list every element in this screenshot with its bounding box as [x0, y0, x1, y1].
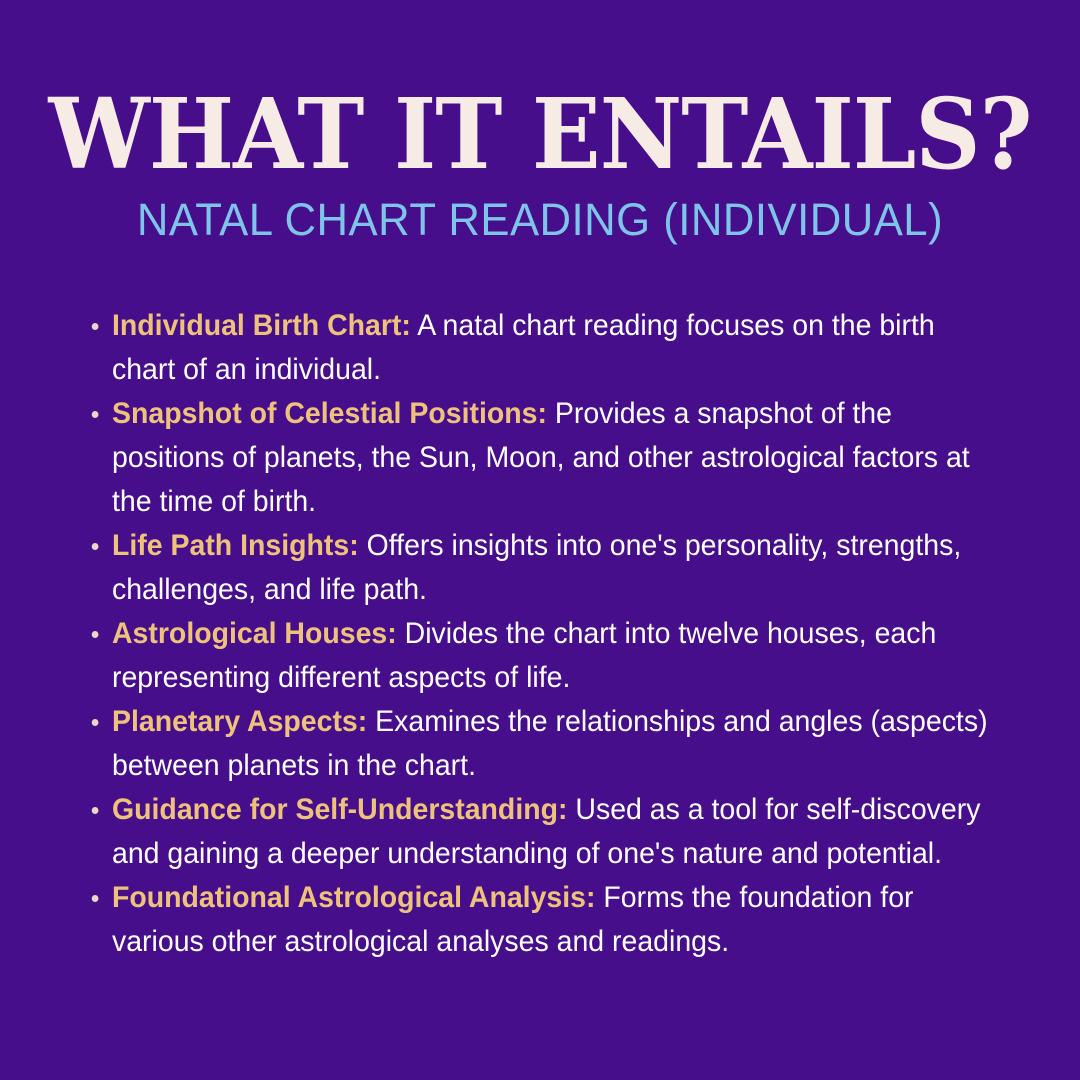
bullet-point-icon — [92, 411, 99, 418]
bullet-point-icon — [92, 895, 99, 902]
list-item-label: Planetary Aspects: — [112, 705, 367, 738]
list-item: Life Path Insights: Offers insights into… — [84, 524, 1003, 612]
slide-canvas: WHAT IT ENTAILS? NATAL CHART READING (IN… — [0, 0, 1080, 1080]
list-item-label: Life Path Insights: — [112, 529, 359, 562]
list-item: Snapshot of Celestial Positions: Provide… — [84, 392, 1003, 524]
list-item: Individual Birth Chart: A natal chart re… — [84, 304, 1003, 392]
bullet-point-icon — [92, 323, 99, 330]
feature-bullet-list: Individual Birth Chart: A natal chart re… — [84, 304, 1036, 964]
list-item-label: Foundational Astrological Analysis: — [112, 881, 595, 914]
page-subtitle: NATAL CHART READING (INDIVIDUAL) — [16, 197, 1064, 242]
bullet-point-icon — [92, 631, 99, 638]
list-item-label: Guidance for Self-Understanding: — [112, 793, 568, 826]
list-item: Astrological Houses: Divides the chart i… — [84, 612, 1003, 700]
bullet-point-icon — [92, 543, 99, 550]
list-item: Planetary Aspects: Examines the relation… — [84, 700, 1003, 788]
bullet-point-icon — [92, 719, 99, 726]
list-item-label: Astrological Houses: — [112, 617, 397, 650]
bullet-point-icon — [92, 807, 99, 814]
list-item: Foundational Astrological Analysis: Form… — [84, 876, 1003, 964]
title-block: WHAT IT ENTAILS? NATAL CHART READING (IN… — [0, 86, 1080, 242]
page-title: WHAT IT ENTAILS? — [38, 86, 1042, 183]
list-item-label: Individual Birth Chart: — [112, 309, 411, 342]
list-item: Guidance for Self-Understanding: Used as… — [84, 788, 1003, 876]
list-item-label: Snapshot of Celestial Positions: — [112, 397, 547, 430]
